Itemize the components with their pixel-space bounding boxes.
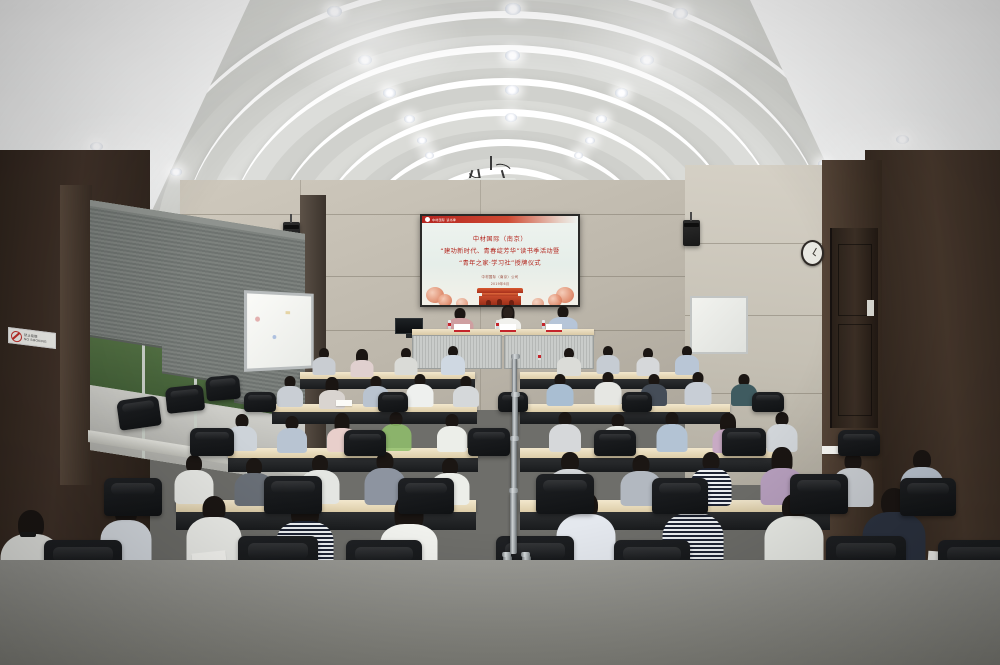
no-smoking-icon (11, 330, 22, 342)
wall-speaker-right (683, 220, 700, 246)
downlight (358, 55, 372, 65)
downlight (170, 168, 182, 176)
chair[interactable] (900, 478, 956, 516)
stanchion-post (512, 396, 518, 438)
downlight (505, 3, 521, 15)
chair[interactable] (752, 392, 784, 412)
stanchion-post (512, 358, 517, 394)
stanchion-post (511, 440, 517, 490)
downlight (505, 113, 517, 122)
downlight (673, 8, 688, 19)
downlight (640, 55, 654, 65)
downlight (425, 152, 434, 159)
chair[interactable] (536, 474, 594, 514)
name-card (454, 324, 470, 332)
water-bottle (542, 320, 545, 329)
chair[interactable] (838, 430, 880, 456)
eyeglasses-icon (20, 532, 36, 537)
window-blind-1 (90, 200, 162, 348)
stanchion-post (510, 492, 517, 554)
downlight (404, 115, 415, 123)
downlight (505, 85, 519, 95)
conference-room-photo: EPSON (0, 0, 1000, 665)
slide-title-line-2: “建功新时代、青春绽芳华”读书季活动暨 (422, 246, 578, 255)
water-bottle (496, 320, 499, 329)
chair[interactable] (398, 478, 454, 514)
chair[interactable] (652, 478, 708, 514)
projection-screen: 中材国际 读书季 中材国际（南京） “建功新时代、青春绽芳华”读书季活动暨 “青… (420, 214, 580, 307)
chair[interactable] (190, 428, 234, 456)
chair[interactable] (244, 392, 276, 412)
chair[interactable] (622, 392, 652, 412)
chair[interactable] (378, 392, 408, 412)
chair[interactable] (344, 430, 386, 456)
chair[interactable] (468, 428, 510, 456)
tiananmen-gate-icon (477, 288, 523, 305)
floor (0, 560, 1000, 665)
water-bottle (448, 320, 451, 329)
downlight (505, 50, 520, 61)
wall-clock (801, 240, 824, 266)
chair[interactable] (722, 428, 766, 456)
chair[interactable] (264, 476, 322, 514)
name-card (546, 324, 562, 332)
name-card (500, 324, 516, 332)
no-smoking-label-en: NO SMOKING (24, 337, 47, 344)
downlight (896, 135, 909, 144)
window-blind-2 (162, 211, 234, 384)
chair[interactable] (104, 478, 162, 516)
room-door[interactable] (830, 228, 878, 428)
slide-logo-icon (425, 217, 430, 222)
slide-banner: 中材国际 读书季 (422, 216, 578, 223)
chair[interactable] (116, 395, 162, 431)
downlight (585, 137, 595, 144)
presentation-slide: 中材国际 读书季 中材国际（南京） “建功新时代、青春绽芳华”读书季活动暨 “青… (422, 216, 578, 305)
slide-banner-text: 中材国际 读书季 (432, 218, 456, 222)
downlight (417, 137, 427, 144)
chair[interactable] (165, 384, 206, 414)
door-switch-plate[interactable] (867, 300, 874, 316)
downlight (615, 88, 628, 98)
downlight (574, 152, 583, 159)
slide-title-line-3: “青年之家·学习社”授牌仪式 (422, 258, 578, 267)
chair[interactable] (594, 430, 636, 456)
downlight (596, 115, 607, 123)
downlight (383, 88, 396, 98)
chair[interactable] (790, 474, 848, 514)
downlight (327, 6, 342, 17)
slide-artwork (422, 279, 578, 305)
slide-title-line-1: 中材国际（南京） (422, 234, 578, 243)
whiteboard (244, 290, 314, 372)
chair[interactable] (205, 375, 241, 402)
